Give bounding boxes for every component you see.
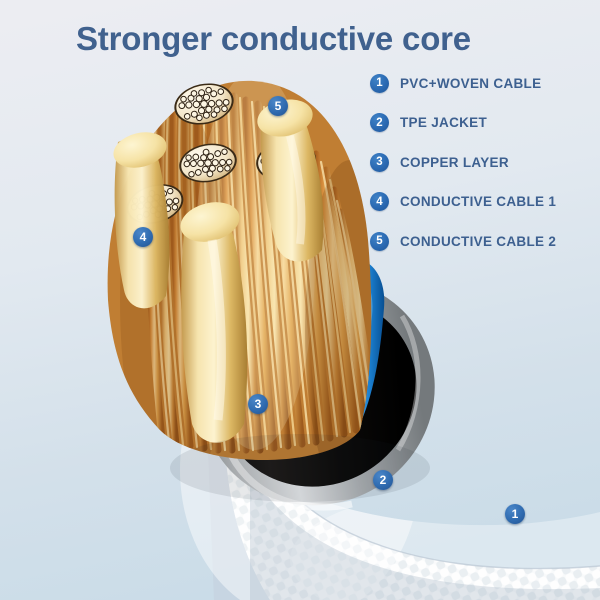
legend-badge-2: 2 xyxy=(370,113,389,132)
marker-3-copper-layer[interactable]: 3 xyxy=(248,394,268,414)
legend-label-4: CONDUCTIVE CABLE 1 xyxy=(400,194,556,209)
legend-badge-3: 3 xyxy=(370,153,389,172)
legend-label-3: COPPER LAYER xyxy=(400,155,509,170)
legend-label-5: CONDUCTIVE CABLE 2 xyxy=(400,234,556,249)
marker-1-pvc-woven-cable[interactable]: 1 xyxy=(505,504,525,524)
legend-item-copper-layer[interactable]: 3 COPPER LAYER xyxy=(370,152,595,172)
legend-badge-4: 4 xyxy=(370,192,389,211)
legend-list: 1 PVC+WOVEN CABLE 2 TPE JACKET 3 COPPER … xyxy=(370,73,595,271)
marker-4-conductive-cable-1[interactable]: 4 xyxy=(133,227,153,247)
legend-item-conductive-cable-2[interactable]: 5 CONDUCTIVE CABLE 2 xyxy=(370,231,595,251)
legend-item-pvc-woven-cable[interactable]: 1 PVC+WOVEN CABLE xyxy=(370,73,595,93)
legend-label-2: TPE JACKET xyxy=(400,115,487,130)
legend-badge-1: 1 xyxy=(370,74,389,93)
legend-item-tpe-jacket[interactable]: 2 TPE JACKET xyxy=(370,113,595,133)
legend-label-1: PVC+WOVEN CABLE xyxy=(400,76,541,91)
page-title: Stronger conductive core xyxy=(76,20,471,58)
product-infographic: Stronger conductive core 1 PVC+WOVEN CAB… xyxy=(0,0,600,600)
legend-item-conductive-cable-1[interactable]: 4 CONDUCTIVE CABLE 1 xyxy=(370,192,595,212)
marker-2-tpe-jacket[interactable]: 2 xyxy=(373,470,393,490)
marker-5-conductive-cable-2[interactable]: 5 xyxy=(268,96,288,116)
legend-badge-5: 5 xyxy=(370,232,389,251)
